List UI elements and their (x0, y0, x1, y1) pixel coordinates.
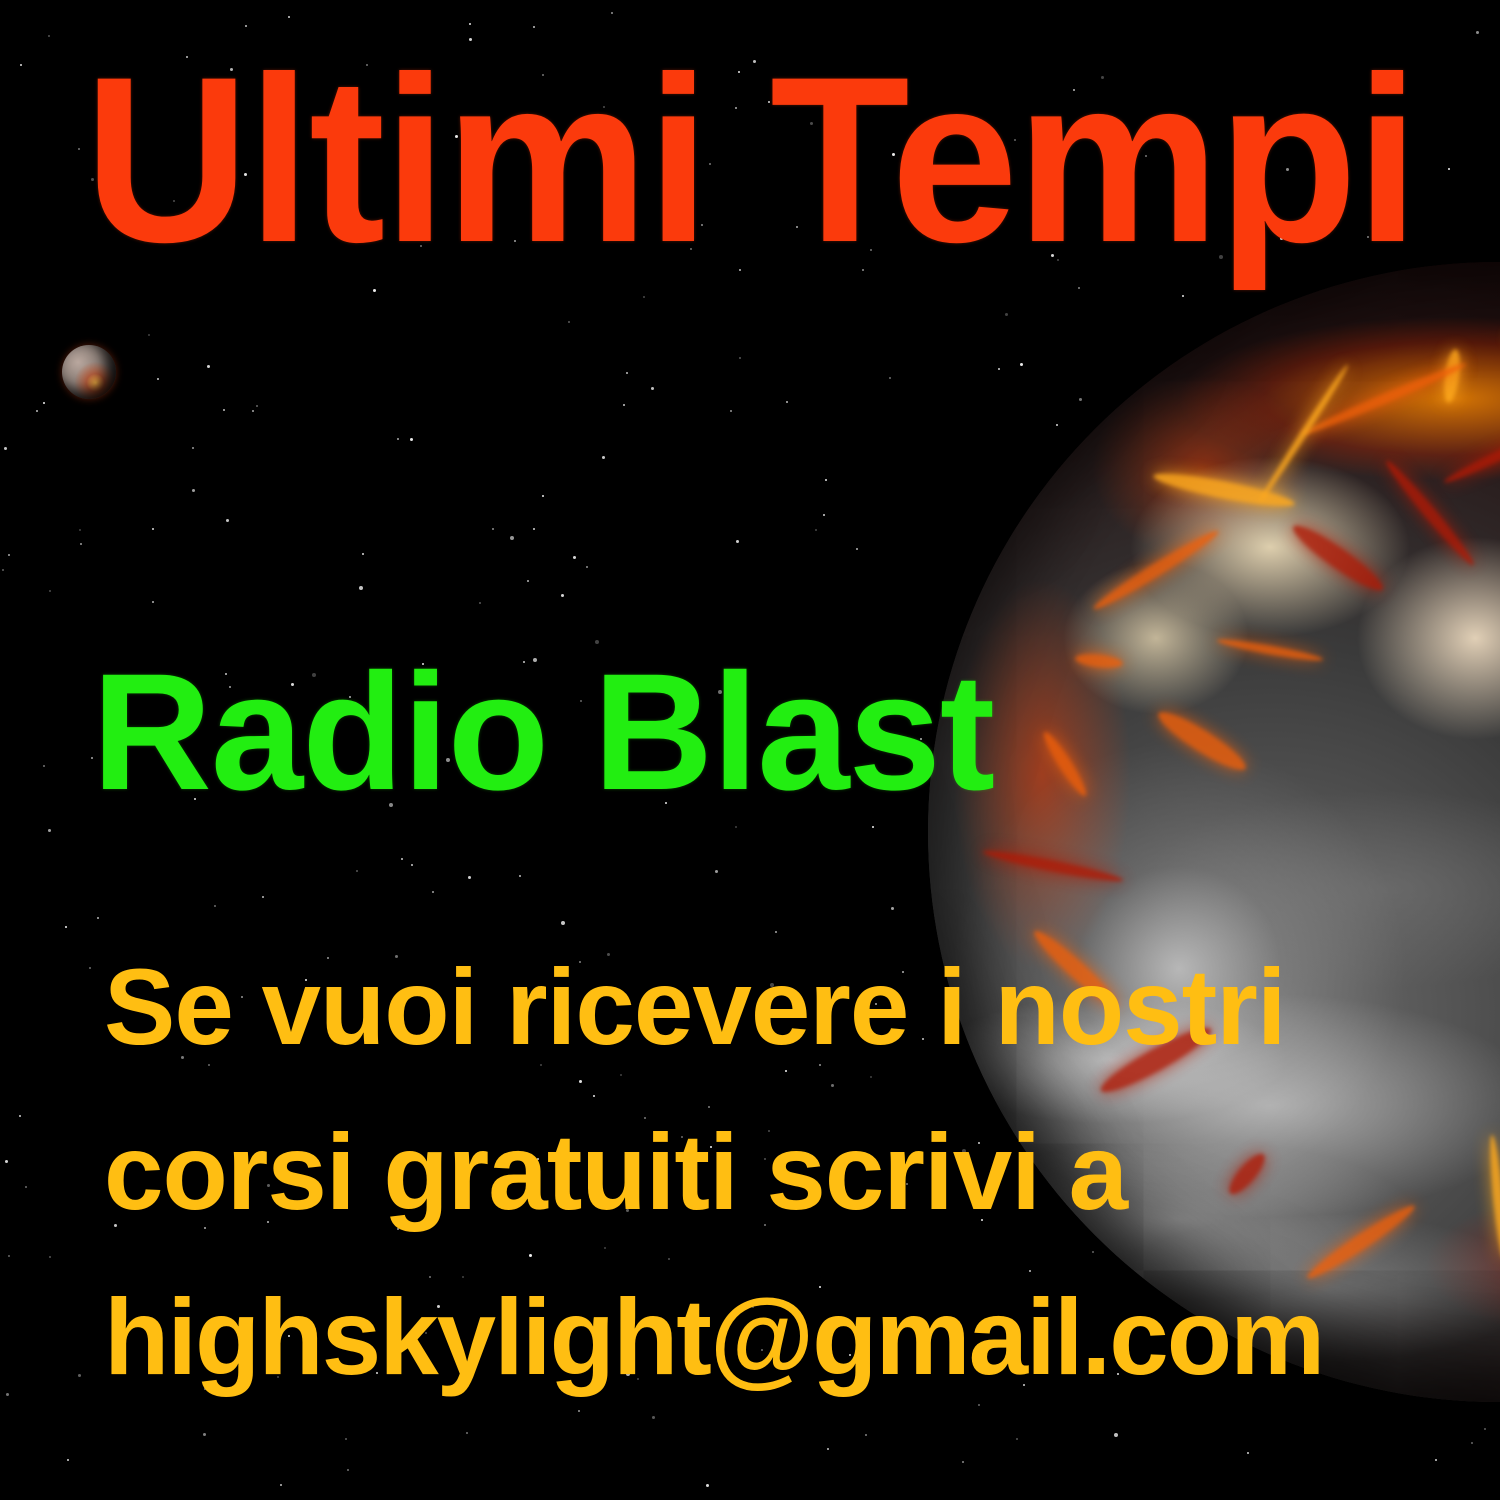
star-dot (856, 548, 858, 550)
star-dot (651, 387, 654, 390)
star-dot (568, 321, 570, 323)
star-dot (256, 405, 258, 407)
star-dot (80, 543, 82, 545)
star-dot (345, 1438, 347, 1440)
body-line-2: corsi gratuiti scrivi a (104, 1109, 1421, 1234)
star-dot (347, 1469, 349, 1471)
star-dot (1247, 1452, 1249, 1454)
star-dot (36, 410, 38, 412)
star-dot (730, 410, 732, 412)
star-dot (561, 921, 565, 925)
lava-crack (1442, 425, 1500, 486)
star-dot (20, 64, 22, 66)
star-dot (252, 410, 254, 412)
star-dot (226, 519, 229, 522)
star-dot (8, 1255, 10, 1257)
star-dot (1448, 168, 1450, 170)
star-dot (978, 1404, 980, 1406)
star-dot (735, 826, 737, 828)
star-dot (825, 479, 827, 481)
star-dot (8, 554, 10, 556)
lava-crack (1487, 1134, 1500, 1259)
star-dot (652, 1416, 655, 1419)
show-name: Radio Blast (92, 650, 994, 816)
star-dot (891, 907, 894, 910)
poster-canvas: Ultimi Tempi Radio Blast Se vuoi ricever… (0, 0, 1500, 1500)
star-dot (410, 438, 413, 441)
star-dot (207, 365, 210, 368)
body-line-1: Se vuoi ricevere i nostri (104, 944, 1421, 1069)
star-dot (542, 495, 544, 497)
star-dot (67, 1459, 69, 1461)
star-dot (48, 829, 51, 832)
lava-crack (1152, 704, 1250, 777)
star-dot (1471, 1442, 1473, 1444)
lava-crack (1288, 519, 1389, 598)
star-dot (49, 1256, 51, 1258)
star-dot (479, 602, 481, 604)
star-dot (466, 1432, 468, 1434)
lava-crack (1152, 468, 1297, 513)
star-dot (1476, 31, 1479, 34)
star-dot (775, 931, 777, 933)
star-dot (25, 1186, 27, 1188)
star-dot (827, 1448, 829, 1450)
star-dot (602, 456, 605, 459)
lava-crack (1074, 652, 1123, 670)
page-title: Ultimi Tempi (84, 42, 1413, 278)
star-dot (5, 1160, 8, 1163)
lava-crack (982, 847, 1124, 886)
star-dot (43, 402, 45, 404)
star-dot (152, 528, 154, 530)
star-dot (1056, 424, 1058, 426)
star-dot (823, 514, 825, 516)
star-dot (43, 765, 45, 767)
lava-crack (1090, 525, 1222, 614)
star-dot (214, 905, 216, 907)
star-dot (1020, 363, 1023, 366)
star-dot (245, 25, 247, 27)
star-dot (4, 447, 7, 450)
star-dot (288, 16, 290, 18)
star-dot (397, 438, 399, 440)
star-dot (1182, 295, 1184, 297)
star-dot (865, 1434, 867, 1436)
lava-crack (1216, 636, 1324, 664)
star-dot (401, 858, 403, 860)
star-dot (962, 1461, 964, 1463)
star-dot (19, 1115, 21, 1117)
star-dot (152, 601, 154, 603)
star-dot (65, 926, 67, 928)
star-dot (533, 528, 535, 530)
star-dot (586, 566, 588, 568)
star-dot (48, 35, 50, 37)
star-dot (1114, 1433, 1118, 1437)
star-dot (736, 540, 739, 543)
star-dot (97, 917, 99, 919)
lava-crack (1257, 363, 1351, 504)
star-dot (786, 401, 788, 403)
lava-crack (1039, 728, 1091, 799)
star-dot (89, 967, 91, 969)
star-dot (280, 1484, 282, 1486)
star-dot (815, 529, 817, 531)
star-dot (1016, 1438, 1018, 1440)
star-dot (739, 357, 741, 359)
star-dot (573, 556, 576, 559)
lava-crack (1381, 457, 1477, 569)
star-dot (362, 553, 364, 555)
star-dot (643, 296, 645, 298)
star-dot (356, 870, 358, 872)
star-dot (510, 536, 514, 540)
star-dot (715, 870, 718, 873)
star-dot (623, 404, 625, 406)
star-dot (203, 1433, 206, 1436)
star-dot (192, 489, 195, 492)
star-dot (432, 891, 434, 893)
star-dot (519, 875, 521, 877)
star-dot (157, 378, 159, 380)
star-dot (148, 334, 150, 336)
star-dot (706, 1484, 709, 1487)
star-dot (578, 1410, 580, 1412)
contact-email: highskylight@gmail.com (104, 1274, 1421, 1399)
star-dot (78, 148, 80, 150)
star-dot (492, 528, 494, 530)
star-dot (626, 372, 628, 374)
star-dot (192, 447, 194, 449)
star-dot (49, 590, 51, 592)
star-dot (998, 368, 1000, 370)
body-copy: Se vuoi ricevere i nostri corsi gratuiti… (104, 944, 1434, 1399)
star-dot (469, 23, 471, 25)
lava-crack (1300, 359, 1469, 438)
star-dot (1079, 398, 1082, 401)
star-dot (527, 580, 529, 582)
star-dot (411, 864, 413, 866)
star-dot (223, 409, 225, 411)
star-dot (2, 569, 4, 571)
star-dot (1435, 1459, 1437, 1461)
star-dot (79, 529, 81, 531)
star-dot (561, 594, 564, 597)
star-dot (468, 876, 471, 879)
star-dot (1484, 1428, 1486, 1430)
moon-icon (62, 345, 116, 399)
lava-crack (1442, 348, 1463, 403)
star-dot (872, 826, 874, 828)
star-dot (6, 1393, 9, 1396)
star-dot (78, 1374, 81, 1377)
star-dot (1005, 313, 1008, 316)
star-dot (262, 896, 264, 898)
star-dot (611, 12, 613, 14)
star-dot (359, 586, 363, 590)
star-dot (889, 377, 891, 379)
